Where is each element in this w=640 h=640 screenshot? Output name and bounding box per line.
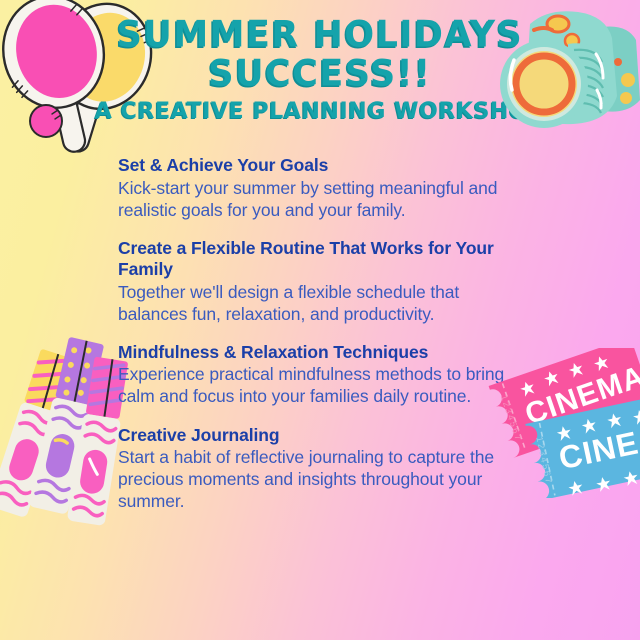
section-body: Kick-start your summer by setting meanin… bbox=[118, 177, 518, 221]
section-body: Start a habit of reflective journaling t… bbox=[118, 446, 518, 512]
section-heading: Mindfulness & Relaxation Techniques bbox=[118, 342, 518, 363]
section-heading: Set & Achieve Your Goals bbox=[118, 155, 518, 176]
poster-canvas: SUMMER HOLIDAYS SUCCESS!! A CREATIVE PLA… bbox=[0, 0, 640, 640]
camera-illustration bbox=[492, 0, 640, 139]
cinema-tickets-illustration: 1234567 CINEMA 1234567 bbox=[486, 348, 640, 498]
section-item: Creative Journaling Start a habit of ref… bbox=[118, 425, 518, 513]
section-body: Together we'll design a flexible schedul… bbox=[118, 281, 518, 325]
section-item: Create a Flexible Routine That Works for… bbox=[118, 238, 518, 325]
section-item: Set & Achieve Your Goals Kick-start your… bbox=[118, 155, 518, 221]
section-item: Mindfulness & Relaxation Techniques Expe… bbox=[118, 342, 518, 408]
section-heading: Creative Journaling bbox=[118, 425, 518, 446]
section-body: Experience practical mindfulness methods… bbox=[118, 363, 518, 407]
markers-illustration bbox=[0, 320, 132, 550]
sections-list: Set & Achieve Your Goals Kick-start your… bbox=[118, 155, 518, 512]
section-heading: Create a Flexible Routine That Works for… bbox=[118, 238, 518, 280]
